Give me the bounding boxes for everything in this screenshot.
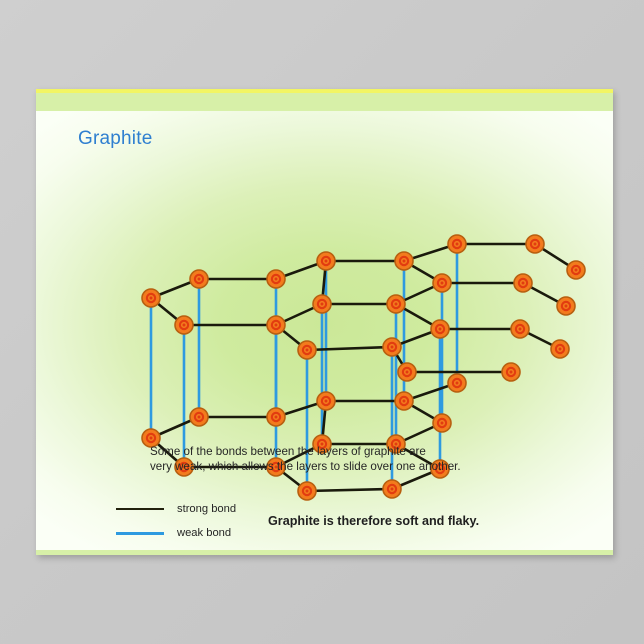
legend-label-strong-bond: strong bond [177,503,236,515]
carbon-atom [431,320,449,338]
carbon-atom [267,316,285,334]
conclusion-text: Graphite is therefore soft and flaky. [268,514,479,528]
carbon-atom [317,252,335,270]
graphite-lattice-diagram [36,89,613,555]
carbon-atom [448,235,466,253]
bond-legend: strong bond weak bond [116,497,236,545]
carbon-atom [267,270,285,288]
caption-line-2: very weak, which allows the layers to sl… [150,459,550,474]
legend-item-strong-bond: strong bond [116,497,236,521]
carbon-atom [511,320,529,338]
carbon-atom [514,274,532,292]
strong-bond-line-icon [116,508,164,510]
strong-bond [307,347,392,350]
carbon-atom [190,270,208,288]
carbon-atom [175,316,193,334]
legend-item-weak-bond: weak bond [116,521,236,545]
carbon-atom [502,363,520,381]
carbon-atom [398,363,416,381]
carbon-atom [567,261,585,279]
carbon-atom [383,338,401,356]
carbon-atom [267,408,285,426]
carbon-atom [395,252,413,270]
carbon-atom [433,414,451,432]
carbon-atom [557,297,575,315]
carbon-atom [313,295,331,313]
carbon-atom [448,374,466,392]
carbon-atom [551,340,569,358]
carbon-atom [190,408,208,426]
legend-label-weak-bond: weak bond [177,527,231,539]
graphite-poster: Graphite Some of the bonds between the l… [36,89,613,555]
carbon-atom [395,392,413,410]
weak-bond-line-icon [116,532,164,535]
carbon-atom [298,341,316,359]
carbon-atom [317,392,335,410]
carbon-atom [387,295,405,313]
caption-line-1: Some of the bonds between the layers of … [150,444,550,459]
carbon-atom [142,289,160,307]
strong-bond [307,489,392,491]
carbon-atom [383,480,401,498]
carbon-atom [298,482,316,500]
carbon-atom [433,274,451,292]
carbon-atom [526,235,544,253]
caption-text: Some of the bonds between the layers of … [150,444,550,474]
